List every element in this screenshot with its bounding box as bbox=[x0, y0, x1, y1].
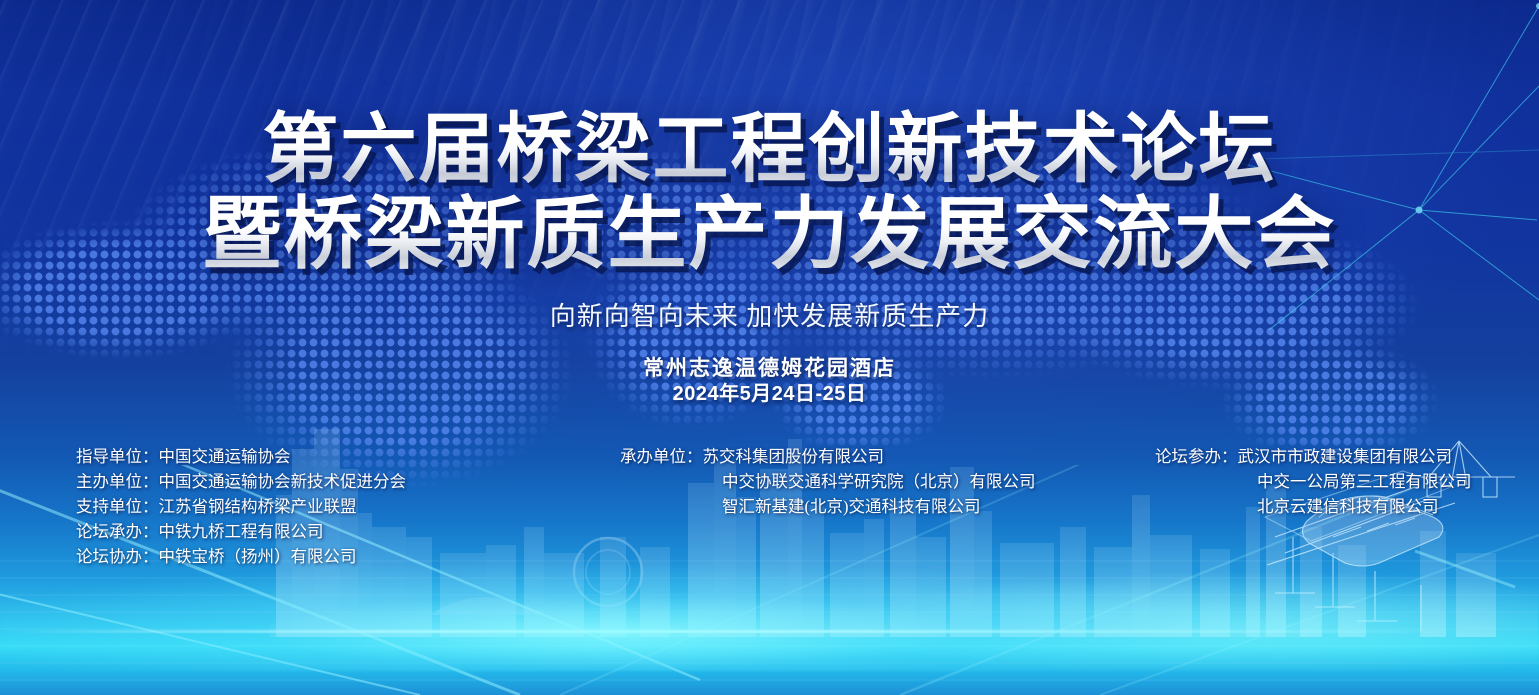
organizer-row: 主办单位：中国交通运输协会新技术促进分会 bbox=[76, 469, 406, 494]
organizer-row: 中交协联交通科学研究院（北京）有限公司 bbox=[620, 469, 1036, 494]
organizer-row: 承办单位：苏交科集团股份有限公司 bbox=[620, 444, 1036, 469]
organizer-column-right: 论坛参办：武汉市市政建设集团有限公司 中交一公局第三工程有限公司 北京云建信科技… bbox=[1155, 444, 1472, 519]
organizer-value: 中国交通运输协会新技术促进分会 bbox=[159, 472, 407, 491]
organizer-columns: 指导单位：中国交通运输协会 主办单位：中国交通运输协会新技术促进分会 支持单位：… bbox=[0, 444, 1539, 574]
organizer-label: 论坛协办： bbox=[76, 544, 159, 569]
organizer-label: 论坛承办： bbox=[76, 519, 159, 544]
organizer-value: 北京云建信科技有限公司 bbox=[1257, 497, 1439, 516]
organizer-label: 论坛参办： bbox=[1155, 444, 1238, 469]
organizer-row: 论坛参办：武汉市市政建设集团有限公司 bbox=[1155, 444, 1472, 469]
organizer-row: 论坛承办：中铁九桥工程有限公司 bbox=[76, 519, 406, 544]
organizer-value: 智汇新基建(北京)交通科技有限公司 bbox=[722, 497, 981, 516]
organizer-value: 中铁宝桥（扬州）有限公司 bbox=[159, 547, 357, 566]
organizer-value: 中铁九桥工程有限公司 bbox=[159, 522, 324, 541]
organizer-row: 支持单位：江苏省钢结构桥梁产业联盟 bbox=[76, 494, 406, 519]
organizer-value: 中交协联交通科学研究院（北京）有限公司 bbox=[722, 472, 1036, 491]
organizer-row: 智汇新基建(北京)交通科技有限公司 bbox=[620, 494, 1036, 519]
organizer-label: 指导单位： bbox=[76, 444, 159, 469]
organizer-row: 指导单位：中国交通运输协会 bbox=[76, 444, 406, 469]
organizer-row: 中交一公局第三工程有限公司 bbox=[1155, 469, 1472, 494]
organizer-value: 中国交通运输协会 bbox=[159, 447, 291, 466]
conference-banner: 第六届桥梁工程创新技术论坛 暨桥梁新质生产力发展交流大会 向新向智向未来 加快发… bbox=[0, 0, 1539, 695]
organizer-value: 苏交科集团股份有限公司 bbox=[703, 447, 885, 466]
organizer-value: 江苏省钢结构桥梁产业联盟 bbox=[159, 497, 357, 516]
organizer-column-middle: 承办单位：苏交科集团股份有限公司 中交协联交通科学研究院（北京）有限公司 智汇新… bbox=[620, 444, 1036, 519]
title-line-1: 第六届桥梁工程创新技术论坛 bbox=[0, 108, 1539, 192]
organizer-column-left: 指导单位：中国交通运输协会 主办单位：中国交通运输协会新技术促进分会 支持单位：… bbox=[76, 444, 406, 569]
organizer-label: 承办单位： bbox=[620, 444, 703, 469]
organizer-value: 武汉市市政建设集团有限公司 bbox=[1238, 447, 1453, 466]
organizer-value: 中交一公局第三工程有限公司 bbox=[1257, 472, 1472, 491]
organizer-row: 北京云建信科技有限公司 bbox=[1155, 494, 1472, 519]
organizer-row: 论坛协办：中铁宝桥（扬州）有限公司 bbox=[76, 544, 406, 569]
event-slogan: 向新向智向未来 加快发展新质生产力 bbox=[0, 296, 1539, 333]
title-line-2: 暨桥梁新质生产力发展交流大会 bbox=[0, 192, 1539, 276]
organizer-label: 支持单位： bbox=[76, 494, 159, 519]
organizer-label: 主办单位： bbox=[76, 469, 159, 494]
event-dates: 2024年5月24日-25日 bbox=[0, 377, 1539, 406]
event-title: 第六届桥梁工程创新技术论坛 暨桥梁新质生产力发展交流大会 bbox=[0, 108, 1539, 276]
